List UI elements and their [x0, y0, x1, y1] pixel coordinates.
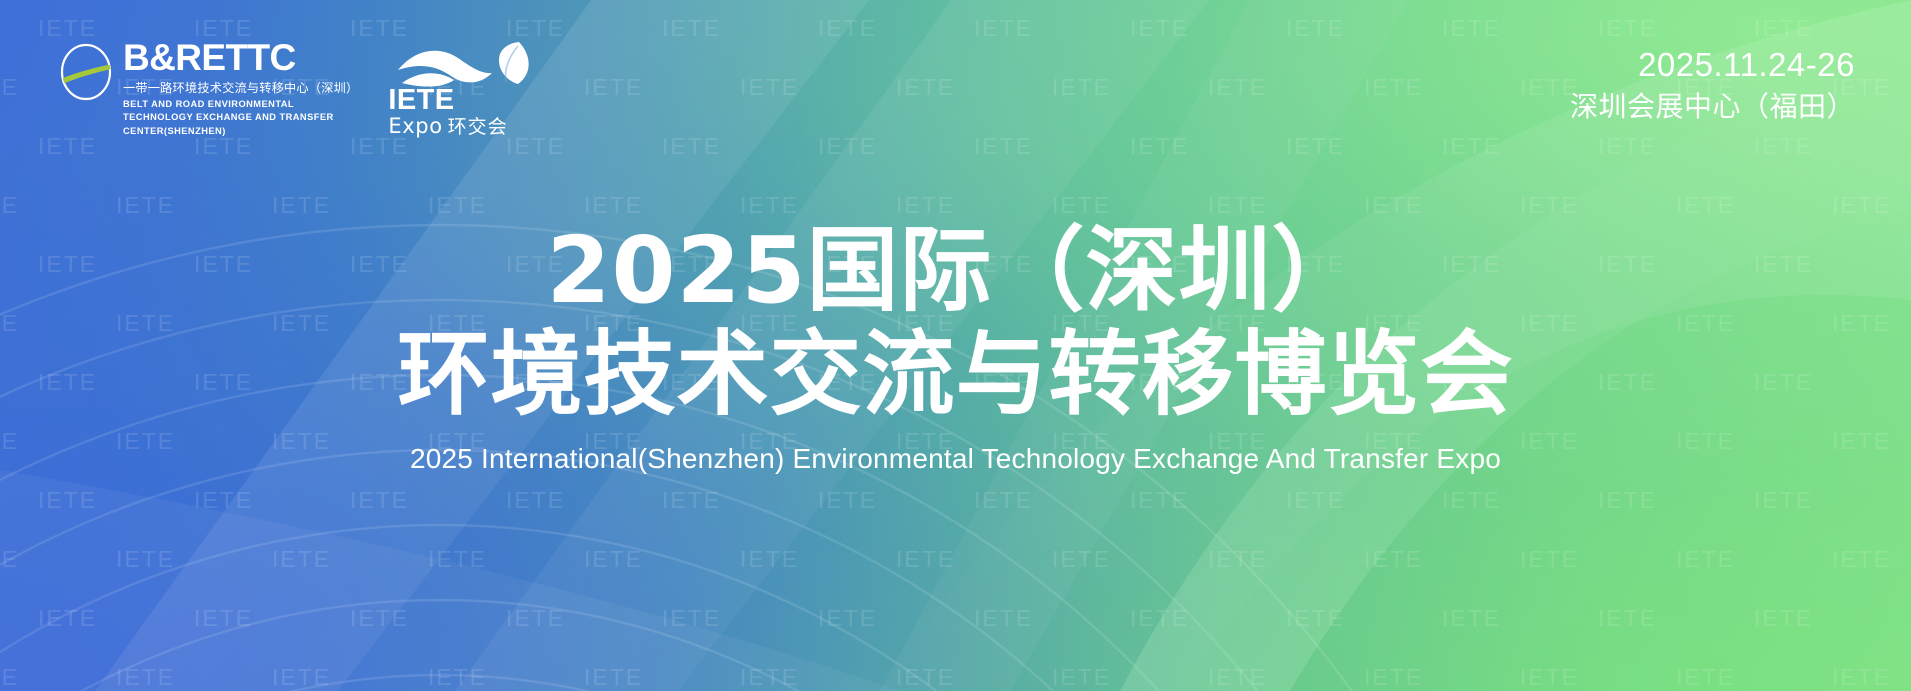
- brettc-name: B&RETTC: [123, 39, 358, 76]
- event-banner: IETEIETEIETEIETEIETEIETEIETEIETEIETEIETE…: [0, 0, 1911, 691]
- logo-group: B&RETTC 一带一路环境技术交流与转移中心（深圳） BELT AND ROA…: [58, 38, 538, 138]
- brettc-en-line-3: CENTER(SHENZHEN): [123, 125, 358, 138]
- event-meta: 2025.11.24-26 深圳会展中心（福田）: [1570, 46, 1855, 124]
- brettc-name-cn: 一带一路环境技术交流与转移中心（深圳）: [123, 81, 358, 96]
- title-english: 2025 International(Shenzhen) Environment…: [0, 443, 1911, 475]
- iete-expo-logo[interactable]: IETE Expo环交会: [388, 40, 538, 138]
- iete-subtitle: Expo环交会: [388, 116, 507, 137]
- title-block: 2025国际（深圳） 环境技术交流与转移博览会 2025 Internation…: [0, 222, 1911, 475]
- circle-with-band-icon: [58, 42, 114, 102]
- event-date: 2025.11.24-26: [1570, 46, 1855, 84]
- brettc-text-block: B&RETTC 一带一路环境技术交流与转移中心（深圳） BELT AND ROA…: [123, 38, 358, 138]
- title-line-2: 环境技术交流与转移博览会: [0, 326, 1911, 424]
- brettc-name-en: BELT AND ROAD ENVIRONMENTAL TECHNOLOGY E…: [123, 98, 358, 138]
- banner-header: B&RETTC 一带一路环境技术交流与转移中心（深圳） BELT AND ROA…: [0, 0, 1911, 160]
- iete-sub-cn: 环交会: [448, 116, 508, 138]
- brettc-en-line-1: BELT AND ROAD ENVIRONMENTAL: [123, 98, 358, 111]
- iete-wordmark: IETE: [388, 86, 454, 115]
- brettc-logo[interactable]: B&RETTC 一带一路环境技术交流与转移中心（深圳） BELT AND ROA…: [58, 38, 358, 138]
- title-line-1: 2025国际（深圳）: [0, 222, 1911, 320]
- event-venue: 深圳会展中心（福田）: [1570, 90, 1855, 124]
- brettc-en-line-2: TECHNOLOGY EXCHANGE AND TRANSFER: [123, 111, 358, 124]
- iete-sub-en: Expo: [388, 114, 442, 138]
